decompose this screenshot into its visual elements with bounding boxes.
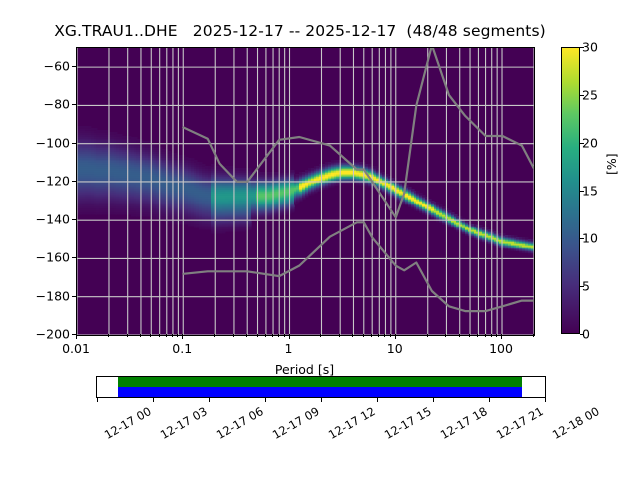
timeline-tick-label: 12-17 21 xyxy=(494,404,546,442)
x-axis-tick-label: 100 xyxy=(489,341,513,356)
page-title: XG.TRAU1..DHE 2025-12-17 -- 2025-12-17 (… xyxy=(0,22,600,40)
colorbar-tick-mark xyxy=(580,47,584,48)
x-axis-minor-tick-mark xyxy=(284,334,285,337)
colorbar-label: [%] xyxy=(604,153,619,175)
x-axis-minor-tick-mark xyxy=(371,334,372,337)
x-axis-minor-tick-mark xyxy=(469,334,470,337)
x-axis-major-tick-mark xyxy=(289,334,290,339)
x-axis-minor-tick-mark xyxy=(533,334,534,337)
colorbar-tick-label: 25 xyxy=(582,87,598,102)
x-axis-minor-tick-mark xyxy=(352,334,353,337)
timeline-tick-mark xyxy=(97,398,98,402)
y-axis-tick-mark xyxy=(72,296,76,297)
ppsd-axes xyxy=(76,47,535,336)
x-axis-minor-tick-mark xyxy=(320,334,321,337)
data-coverage-timeline xyxy=(96,376,546,398)
coverage-segment xyxy=(118,377,522,397)
y-axis-tick-mark xyxy=(72,143,76,144)
x-axis-minor-tick-mark xyxy=(214,334,215,337)
x-axis-major-tick-mark xyxy=(76,334,77,339)
y-axis-tick-mark xyxy=(72,219,76,220)
x-axis-minor-tick-mark xyxy=(278,334,279,337)
y-axis-tick-label: −180 xyxy=(26,288,70,303)
y-axis-tick-label: −140 xyxy=(26,212,70,227)
timeline-tick-label: 12-17 00 xyxy=(102,404,154,442)
x-axis-minor-tick-mark xyxy=(150,334,151,337)
timeline-tick-mark xyxy=(433,398,434,402)
x-axis-minor-tick-mark xyxy=(339,334,340,337)
x-axis-minor-tick-mark xyxy=(127,334,128,337)
timeline-tick-label: 12-17 18 xyxy=(438,404,490,442)
x-axis-tick-label: 0.01 xyxy=(62,341,90,356)
y-axis-tick-label: −100 xyxy=(26,135,70,150)
x-axis-minor-tick-mark xyxy=(166,334,167,337)
colorbar-tick-label: 15 xyxy=(582,183,598,198)
timeline-tick-label: 12-17 15 xyxy=(382,404,434,442)
y-axis-tick-mark xyxy=(72,104,76,105)
x-axis-minor-tick-mark xyxy=(390,334,391,337)
x-axis-minor-tick-mark xyxy=(485,334,486,337)
colorbar-tick-mark xyxy=(580,143,584,144)
y-axis-tick-mark xyxy=(72,181,76,182)
x-axis-label: Period [s] xyxy=(76,362,533,377)
colorbar-tick-mark xyxy=(580,95,584,96)
timeline-tick-label: 12-17 03 xyxy=(158,404,210,442)
coverage-bar-bottom xyxy=(118,387,522,397)
colorbar-tick-mark xyxy=(580,334,584,335)
colorbar-tick-label: 10 xyxy=(582,231,598,246)
x-axis-tick-label: 1 xyxy=(285,341,293,356)
ppsd-plot-figure: XG.TRAU1..DHE 2025-12-17 -- 2025-12-17 (… xyxy=(0,0,640,480)
x-axis-minor-tick-mark xyxy=(477,334,478,337)
y-axis-tick-mark xyxy=(72,257,76,258)
timeline-tick-mark xyxy=(321,398,322,402)
x-axis-minor-tick-mark xyxy=(159,334,160,337)
x-axis-major-tick-mark xyxy=(395,334,396,339)
timeline-tick-label: 12-17 12 xyxy=(326,404,378,442)
x-axis-tick-label: 0.1 xyxy=(172,341,192,356)
x-axis-minor-tick-mark xyxy=(384,334,385,337)
timeline-tick-label: 12-18 00 xyxy=(550,404,602,442)
colorbar xyxy=(561,47,580,334)
x-axis-minor-tick-mark xyxy=(378,334,379,337)
x-axis-minor-tick-mark xyxy=(265,334,266,337)
colorbar-tick-mark xyxy=(580,238,584,239)
timeline-tick-label: 12-17 09 xyxy=(270,404,322,442)
x-axis-minor-tick-mark xyxy=(233,334,234,337)
x-axis-minor-tick-mark xyxy=(246,334,247,337)
x-axis-tick-label: 10 xyxy=(387,341,403,356)
x-axis-minor-tick-mark xyxy=(363,334,364,337)
timeline-tick-mark xyxy=(265,398,266,402)
x-axis-minor-tick-mark xyxy=(445,334,446,337)
timeline-tick-mark xyxy=(209,398,210,402)
y-axis-tick-label: −120 xyxy=(26,173,70,188)
timeline-tick-mark xyxy=(377,398,378,402)
x-axis-minor-tick-mark xyxy=(459,334,460,337)
x-axis-major-tick-mark xyxy=(182,334,183,339)
timeline-tick-mark xyxy=(153,398,154,402)
colorbar-tick-mark xyxy=(580,286,584,287)
timeline-tick-mark xyxy=(489,398,490,402)
y-axis-tick-label: −200 xyxy=(26,327,70,342)
colorbar-tick-label: 20 xyxy=(582,135,598,150)
x-axis-major-tick-mark xyxy=(501,334,502,339)
colorbar-tick-label: 30 xyxy=(582,40,598,55)
noise-model-curves xyxy=(77,48,534,335)
x-axis-minor-tick-mark xyxy=(177,334,178,337)
timeline-tick-label: 12-17 06 xyxy=(214,404,266,442)
x-axis-minor-tick-mark xyxy=(108,334,109,337)
x-axis-minor-tick-mark xyxy=(427,334,428,337)
x-axis-minor-tick-mark xyxy=(272,334,273,337)
colorbar-tick-mark xyxy=(580,191,584,192)
y-axis-label: Amplitude [m2/s4/Hz] [dB] xyxy=(0,0,14,50)
x-axis-minor-tick-mark xyxy=(257,334,258,337)
timeline-tick-mark xyxy=(545,398,546,402)
x-axis-minor-tick-mark xyxy=(172,334,173,337)
y-axis-tick-mark xyxy=(72,66,76,67)
x-axis-minor-tick-mark xyxy=(491,334,492,337)
coverage-bar-top xyxy=(118,377,522,387)
x-axis-minor-tick-mark xyxy=(140,334,141,337)
x-axis-minor-tick-mark xyxy=(496,334,497,337)
y-axis-tick-label: −60 xyxy=(26,59,70,74)
y-axis-tick-label: −160 xyxy=(26,250,70,265)
y-axis-tick-label: −80 xyxy=(26,97,70,112)
